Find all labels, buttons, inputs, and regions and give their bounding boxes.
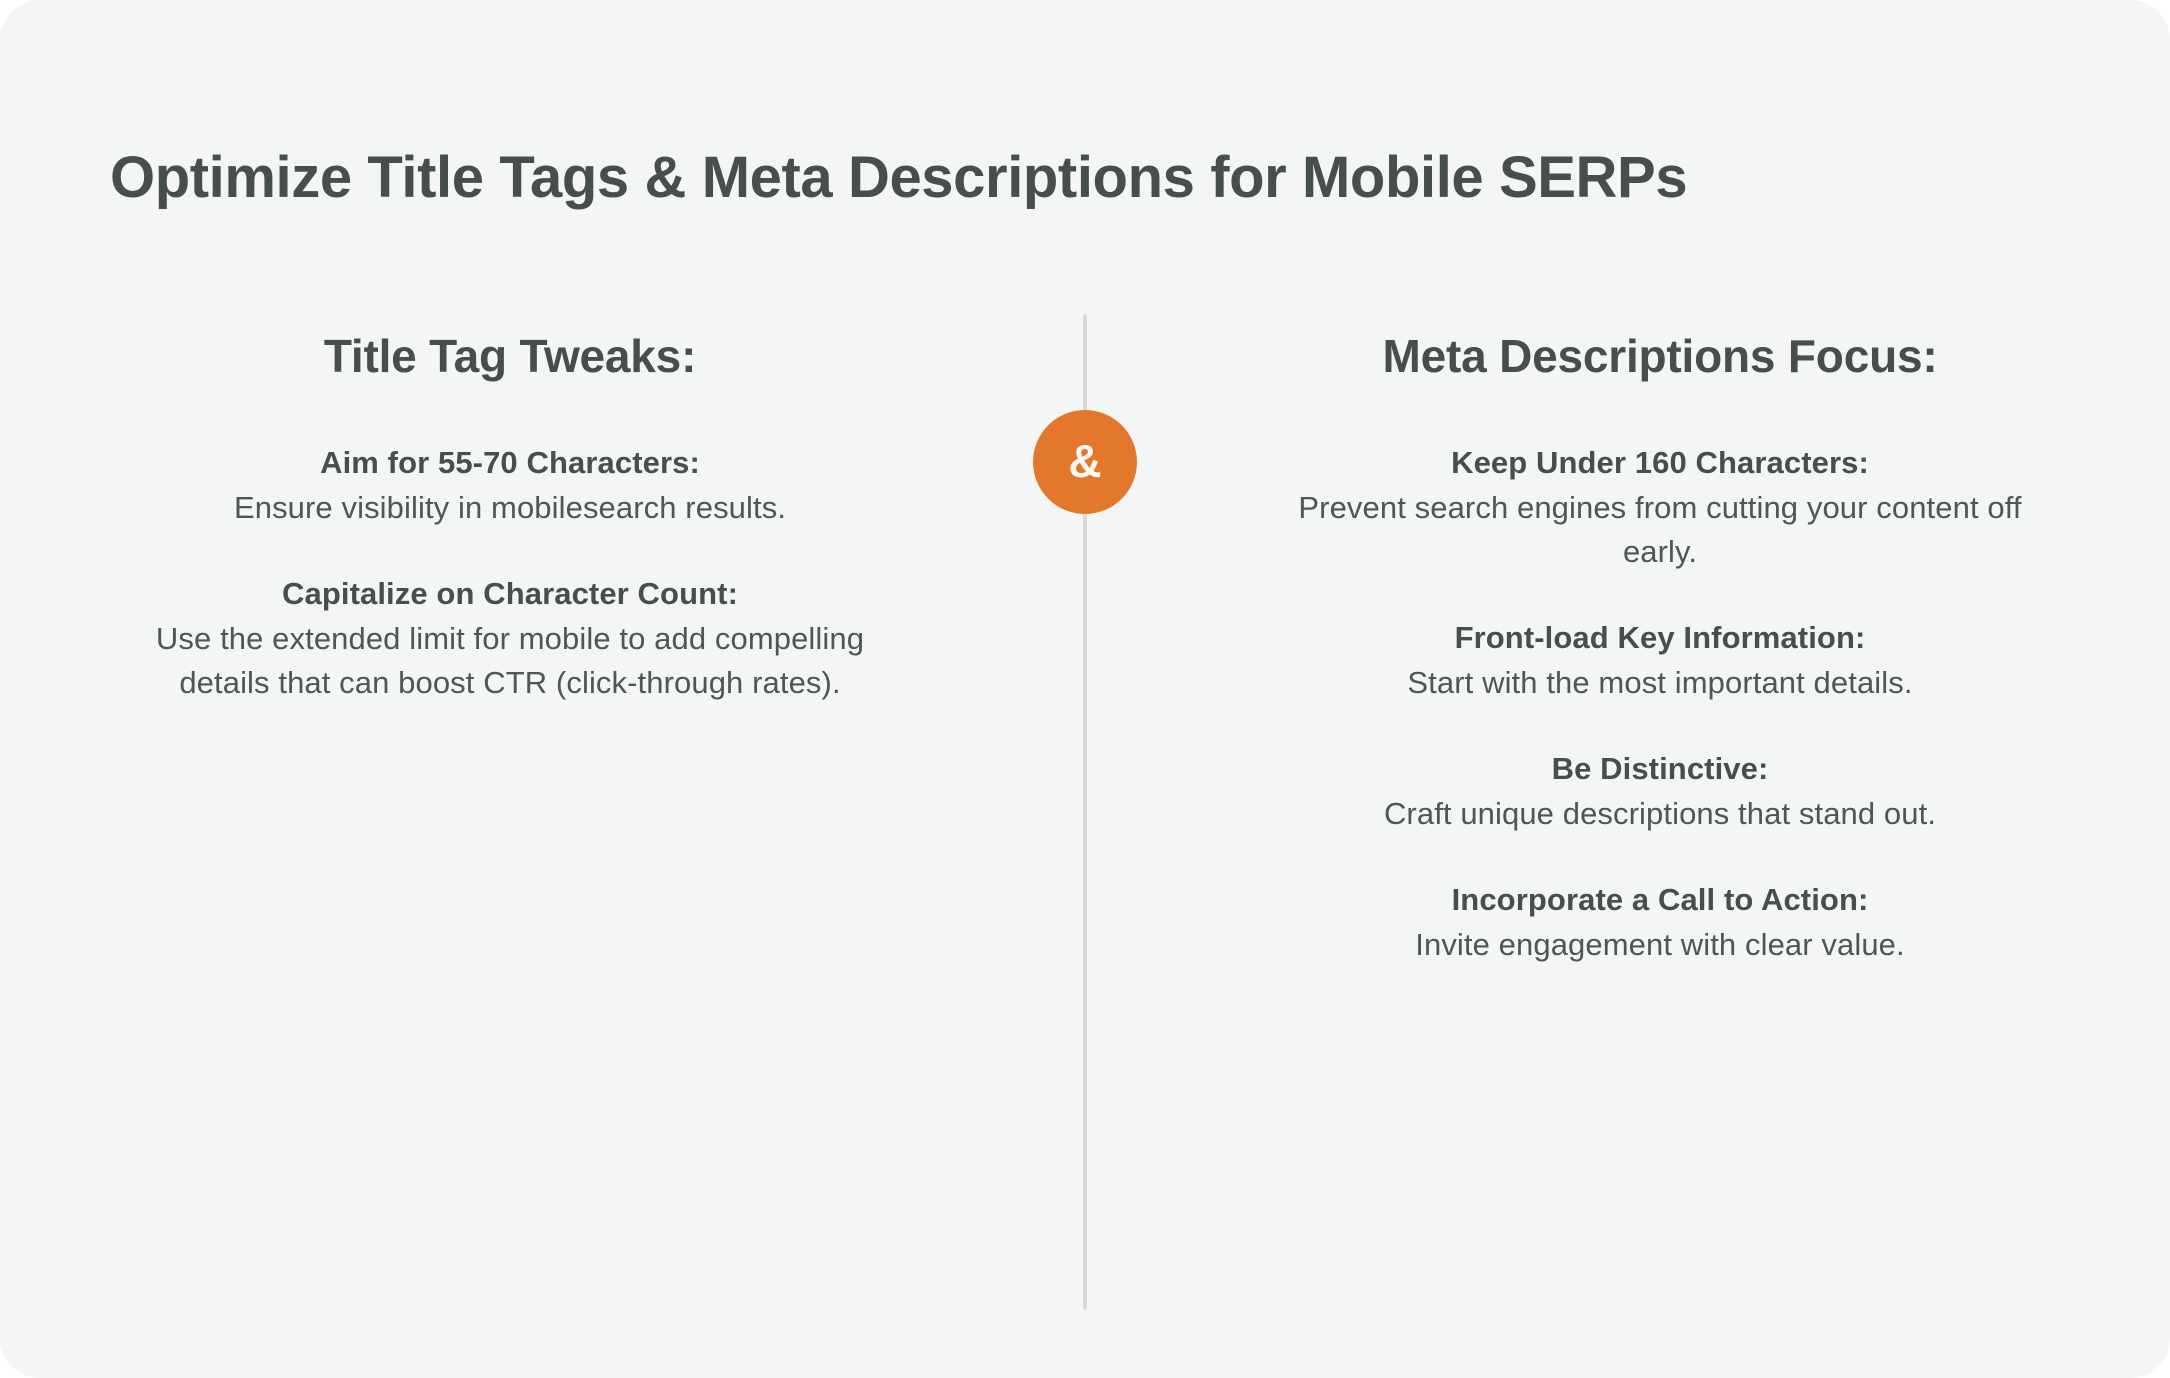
list-item: Keep Under 160 Characters: Prevent searc… bbox=[1260, 441, 2060, 574]
item-title: Capitalize on Character Count: bbox=[110, 572, 910, 617]
item-body: Use the extended limit for mobile to add… bbox=[110, 617, 910, 705]
list-item: Incorporate a Call to Action: Invite eng… bbox=[1260, 878, 2060, 967]
column-heading-right: Meta Descriptions Focus: bbox=[1260, 330, 2060, 383]
item-body: Ensure visibility in mobilesearch result… bbox=[110, 486, 910, 530]
list-item: Front-load Key Information: Start with t… bbox=[1260, 616, 2060, 705]
item-title: Aim for 55-70 Characters: bbox=[110, 441, 910, 486]
item-title: Be Distinctive: bbox=[1260, 747, 2060, 792]
list-item: Be Distinctive: Craft unique description… bbox=[1260, 747, 2060, 836]
page-title: Optimize Title Tags & Meta Descriptions … bbox=[110, 147, 2070, 210]
item-body: Start with the most important details. bbox=[1260, 661, 2060, 705]
item-body: Prevent search engines from cutting your… bbox=[1260, 486, 2060, 574]
item-body: Invite engagement with clear value. bbox=[1260, 923, 2060, 967]
list-item: Aim for 55-70 Characters: Ensure visibil… bbox=[110, 441, 910, 530]
item-title: Front-load Key Information: bbox=[1260, 616, 2060, 661]
columns-container: Title Tag Tweaks: Aim for 55-70 Characte… bbox=[0, 330, 2170, 967]
item-title: Incorporate a Call to Action: bbox=[1260, 878, 2060, 923]
item-body: Craft unique descriptions that stand out… bbox=[1260, 792, 2060, 836]
list-item: Capitalize on Character Count: Use the e… bbox=[110, 572, 910, 705]
item-title: Keep Under 160 Characters: bbox=[1260, 441, 2060, 486]
column-heading-left: Title Tag Tweaks: bbox=[110, 330, 910, 383]
column-title-tag-tweaks: Title Tag Tweaks: Aim for 55-70 Characte… bbox=[0, 330, 1085, 967]
infographic-card: Optimize Title Tags & Meta Descriptions … bbox=[0, 0, 2170, 1378]
column-meta-descriptions-focus: Meta Descriptions Focus: Keep Under 160 … bbox=[1085, 330, 2170, 967]
